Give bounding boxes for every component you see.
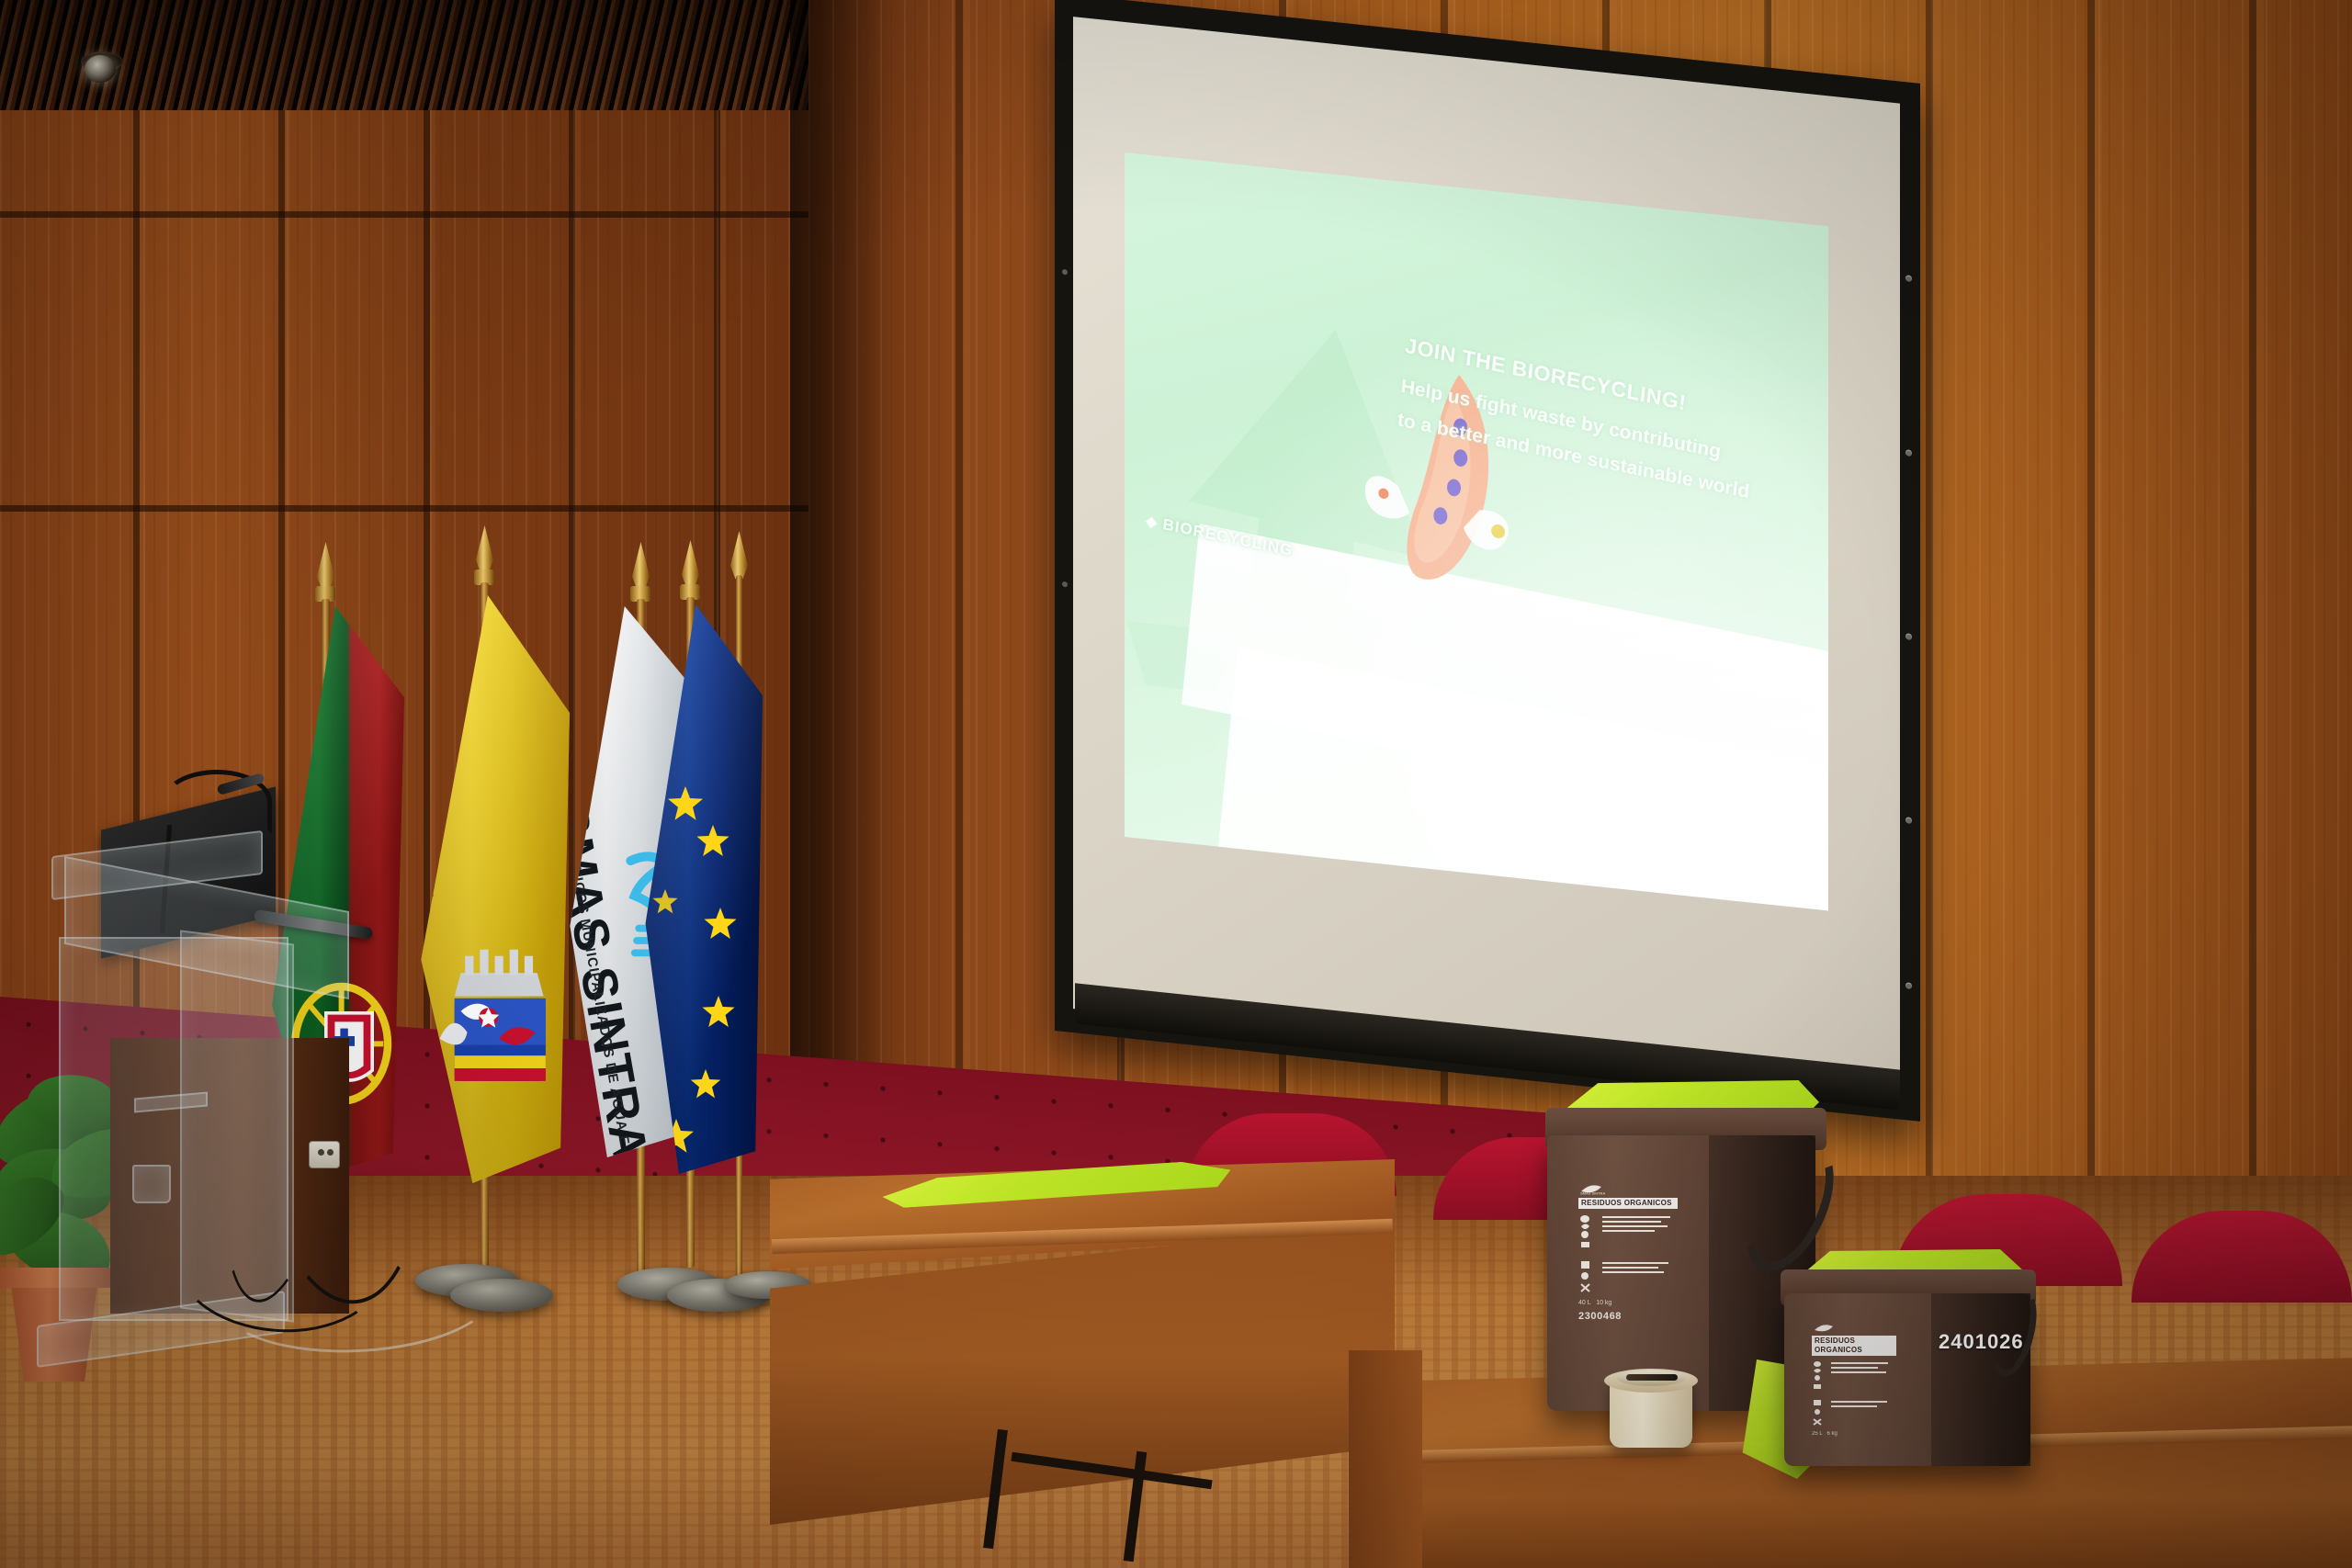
bin-large-rejected-text	[1602, 1259, 1678, 1292]
bin-small-accepted-icons	[1812, 1359, 1828, 1391]
bin-large-accepted-text	[1602, 1213, 1678, 1250]
bin-large-pictograms-2	[1578, 1259, 1678, 1292]
projected-slide: JOIN THE BIORECYCLING! Help us fight was…	[1125, 152, 1828, 910]
bin-large-specs: 40 L 10 kg	[1578, 1300, 1678, 1308]
ceiling-spotlight-left	[85, 55, 116, 83]
screen-grommet-3	[1905, 633, 1912, 640]
bin-small-specs: 25 L 6 kg	[1812, 1431, 1896, 1438]
diamond-bullet-icon	[1146, 517, 1158, 529]
screen-grommet-left-1	[1062, 269, 1068, 276]
wall-left-seam-lower	[0, 505, 827, 512]
screen-grommet-4	[1905, 817, 1912, 824]
projection-screen-surface: JOIN THE BIORECYCLING! Help us fight was…	[1073, 17, 1900, 1096]
bin-large-label-bar: RESIDUOS ORGANICOS	[1578, 1198, 1678, 1209]
bin-small-label-bar: RESIDUOS ORGANICOS	[1812, 1336, 1896, 1356]
bin-small-rejected-icons	[1812, 1398, 1828, 1426]
bin-small-pictograms-2	[1812, 1398, 1896, 1426]
projection-screen: JOIN THE BIORECYCLING! Help us fight was…	[1055, 0, 1920, 1122]
bin-small-rejected-text	[1831, 1398, 1896, 1426]
bin-large-number: 2300468	[1578, 1311, 1678, 1324]
conference-room-photo: JOIN THE BIORECYCLING! Help us fight was…	[0, 0, 2352, 1568]
bin-large-pictograms	[1578, 1213, 1678, 1250]
screen-grommet-1	[1905, 275, 1912, 282]
svg-text:SMAS SINTRA: SMAS SINTRA	[1580, 1191, 1605, 1196]
desk-right-end-panel	[1349, 1350, 1422, 1568]
bin-large-label: SMAS SINTRA RESIDUOS ORGANICOS	[1578, 1183, 1678, 1324]
screen-grommet-2	[1905, 449, 1912, 457]
screen-grommet-5	[1905, 982, 1912, 989]
screen-grommet-left-2	[1062, 581, 1068, 588]
bin-small-label: RESIDUOS ORGANICOS	[1812, 1323, 1896, 1438]
water-glass	[132, 1165, 171, 1203]
bin-large-rejected-icons	[1578, 1259, 1599, 1292]
wall-left-seam-upper	[0, 211, 827, 218]
bin-large-accepted-icons	[1578, 1213, 1599, 1250]
compost-tub-lid-print	[1626, 1374, 1678, 1381]
smas-leaf-logo-icon-small	[1812, 1323, 1845, 1334]
smas-leaf-logo-icon: SMAS SINTRA	[1578, 1183, 1615, 1195]
bin-small-accepted-text	[1831, 1359, 1896, 1391]
bin-small-pictograms	[1812, 1359, 1896, 1391]
